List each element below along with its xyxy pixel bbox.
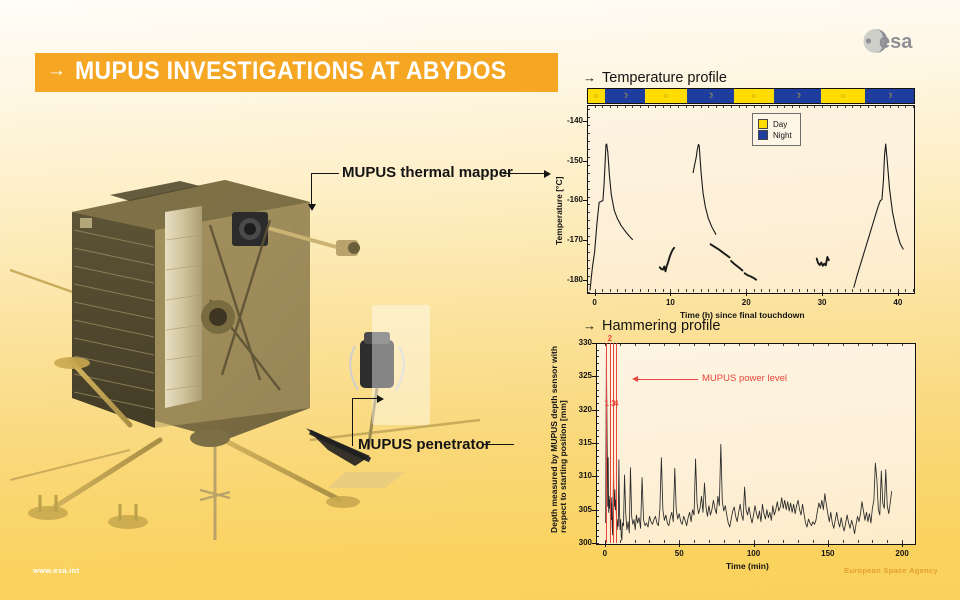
temperature-x-tick-label: 0 [583,298,607,307]
footer-website[interactable]: www.esa.int [33,566,79,575]
sun-icon: ○ [664,93,668,100]
power-level-annotation-label: MUPUS power level [702,373,787,384]
hammering-y-tick-label: 325 [564,371,592,380]
temperature-y-minor-tick [587,292,590,293]
callout-penetrator-leader-arrow [352,398,378,399]
hammering-x-tick [828,543,829,547]
temperature-x-minor-tick-top [913,105,914,108]
daynight-segment-night-5: ☽ [774,89,822,103]
moon-icon: ☽ [622,93,628,100]
temperature-x-tick-label: 40 [886,298,910,307]
svg-text:esa: esa [879,31,913,53]
hammering-chart: Depth measured by MUPUS depth sensor wit… [530,333,940,568]
temperature-daynight-bar: ○☽○☽○☽○☽ [587,88,915,104]
moon-icon: ☽ [794,93,800,100]
hammering-x-tick-label: 150 [815,549,841,558]
temperature-x-tick-label: 30 [810,298,834,307]
power-level-line-2 [610,343,611,543]
temperature-panel-header: → Temperature profile [583,70,727,86]
hammering-x-tick-label: 0 [592,549,618,558]
callout-thermal-arrow-down [308,204,316,211]
hammering-x-tick [679,543,680,547]
power-level-line-3 [613,343,614,543]
esa-logo: esa [858,26,938,56]
daynight-segment-night-3: ☽ [687,89,734,103]
temperature-x-minor-tick [913,289,914,292]
page-title: MUPUS INVESTIGATIONS AT ABYDOS [75,57,506,86]
callout-penetrator-leader-right [484,444,514,445]
moon-icon: ☽ [886,93,892,100]
temperature-header-arrow-icon: → [583,70,596,85]
callout-thermal-leader-left [311,173,339,174]
power-level-line-1 [606,343,607,543]
daynight-segment-night-1: ☽ [605,89,645,103]
penetrator-highlight [372,305,430,425]
callout-penetrator-label: MUPUS penetrator [358,436,491,453]
temperature-panel-title: Temperature profile [602,70,727,86]
hammering-panel-header: → Hammering profile [583,318,720,334]
temperature-y-tick-label: -170 [557,235,583,244]
callout-penetrator-arrow-right [377,395,384,403]
callout-thermal-leader-down [311,173,312,206]
hammering-panel-title: Hammering profile [602,318,720,334]
callout-penetrator-leader-up [352,398,353,446]
hammering-y-tick-label: 300 [564,538,592,547]
page-title-banner: → MUPUS INVESTIGATIONS AT ABYDOS [35,53,558,92]
infographic-root: esa → MUPUS INVESTIGATIONS AT ABYDOS [0,0,960,600]
sun-icon: ○ [594,93,598,100]
daynight-segment-day-6: ○ [821,89,864,103]
hammering-x-tick-label: 50 [666,549,692,558]
power-level-arrow-head [632,376,638,382]
hammering-x-tick [605,543,606,547]
temperature-x-tick [898,292,899,296]
power-level-label-2: 2 [608,334,612,343]
temperature-y-tick-label: -150 [557,156,583,165]
daynight-segment-day-4: ○ [734,89,774,103]
power-level-arrow-line [638,379,698,380]
hammering-x-tick-label: 100 [741,549,767,558]
daynight-segment-night-7: ☽ [865,89,914,103]
power-level-label-4: 4 [614,399,618,408]
temperature-y-tick-label: -140 [557,116,583,125]
temperature-x-tick-label: 20 [734,298,758,307]
temperature-x-tick [595,292,596,296]
daynight-segment-day-0: ○ [588,89,605,103]
temperature-x-tick-label: 10 [658,298,682,307]
hammering-y-tick-label: 330 [564,338,592,347]
temperature-chart: ○☽○☽○☽○☽ Temperature [°C] Time (h) since… [530,85,940,300]
temperature-x-tick [670,292,671,296]
sun-icon: ○ [841,93,845,100]
hammering-x-axis-title: Time (min) [726,561,769,571]
temperature-series-svg [587,105,913,292]
daynight-segment-day-2: ○ [645,89,687,103]
temperature-x-tick [746,292,747,296]
hammering-y-tick-label: 305 [564,505,592,514]
power-level-label-1: 1 [604,399,608,408]
sun-icon: ○ [752,93,756,100]
title-arrow-icon: → [47,61,66,80]
temperature-y-tick-label: -180 [557,275,583,284]
moon-icon: ☽ [707,93,713,100]
power-level-line-4 [616,343,617,543]
hammering-y-minor-tick [596,543,599,544]
temperature-x-tick [822,292,823,296]
hammering-y-tick-label: 320 [564,405,592,414]
hammering-x-tick [902,543,903,547]
hammering-y-tick-label: 315 [564,438,592,447]
hammering-y-tick-label: 310 [564,471,592,480]
hammering-x-tick-label: 200 [889,549,915,558]
temperature-y-tick-label: -160 [557,195,583,204]
callout-thermal-mapper-label: MUPUS thermal mapper [342,164,513,181]
hammering-x-tick [754,543,755,547]
footer-credit: European Space Agency [844,566,938,575]
hammering-header-arrow-icon: → [583,318,596,333]
